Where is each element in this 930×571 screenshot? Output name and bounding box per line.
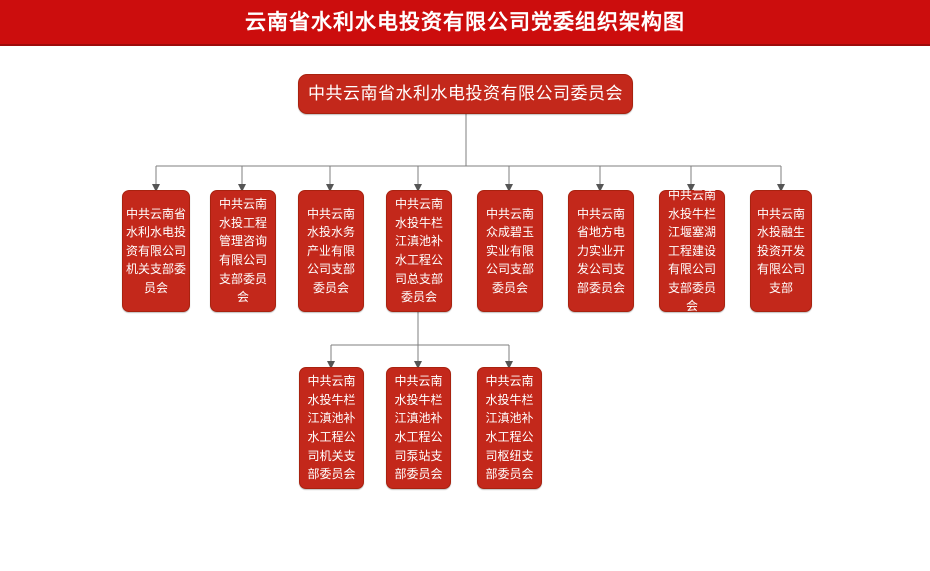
- org-node-root[interactable]: 中共云南省水利水电投资有限公司委员会: [298, 74, 633, 114]
- org-chart-page: 云南省水利水电投资有限公司党委组织架构图: [0, 0, 930, 571]
- org-node-n4[interactable]: 中共云南水投牛栏江滇池补水工程公司总支部委员会: [386, 190, 452, 312]
- org-node-n4b[interactable]: 中共云南水投牛栏江滇池补水工程公司泵站支部委员会: [386, 367, 451, 489]
- org-node-n7[interactable]: 中共云南水投牛栏江堰塞湖工程建设有限公司支部委员会: [659, 190, 725, 312]
- org-node-n8-label: 中共云南水投融生投资开发有限公司支部: [751, 205, 811, 298]
- org-node-n4a[interactable]: 中共云南水投牛栏江滇池补水工程公司机关支部委员会: [299, 367, 364, 489]
- org-node-n4a-label: 中共云南水投牛栏江滇池补水工程公司机关支部委员会: [300, 372, 363, 484]
- org-node-n6-label: 中共云南省地方电力实业开发公司支部委员会: [569, 205, 633, 298]
- org-node-n4c[interactable]: 中共云南水投牛栏江滇池补水工程公司枢纽支部委员会: [477, 367, 542, 489]
- org-node-n4-label: 中共云南水投牛栏江滇池补水工程公司总支部委员会: [387, 195, 451, 307]
- org-node-n2[interactable]: 中共云南水投工程管理咨询有限公司支部委员会: [210, 190, 276, 312]
- org-chart-canvas: 中共云南省水利水电投资有限公司委员会 中共云南省水利水电投资有限公司机关支部委员…: [0, 46, 930, 571]
- org-node-n5[interactable]: 中共云南众成碧玉实业有限公司支部委员会: [477, 190, 543, 312]
- org-node-n1-label: 中共云南省水利水电投资有限公司机关支部委员会: [123, 205, 189, 298]
- org-node-n5-label: 中共云南众成碧玉实业有限公司支部委员会: [478, 205, 542, 298]
- org-node-n8[interactable]: 中共云南水投融生投资开发有限公司支部: [750, 190, 812, 312]
- org-node-n2-label: 中共云南水投工程管理咨询有限公司支部委员会: [211, 195, 275, 307]
- page-title: 云南省水利水电投资有限公司党委组织架构图: [245, 12, 685, 33]
- org-node-n7-label: 中共云南水投牛栏江堰塞湖工程建设有限公司支部委员会: [660, 186, 724, 316]
- org-node-n6[interactable]: 中共云南省地方电力实业开发公司支部委员会: [568, 190, 634, 312]
- org-node-n3-label: 中共云南水投水务产业有限公司支部委员会: [299, 205, 363, 298]
- page-header-banner: 云南省水利水电投资有限公司党委组织架构图: [0, 0, 930, 46]
- org-node-root-label: 中共云南省水利水电投资有限公司委员会: [299, 84, 632, 104]
- org-node-n3[interactable]: 中共云南水投水务产业有限公司支部委员会: [298, 190, 364, 312]
- org-node-n1[interactable]: 中共云南省水利水电投资有限公司机关支部委员会: [122, 190, 190, 312]
- org-node-n4c-label: 中共云南水投牛栏江滇池补水工程公司枢纽支部委员会: [478, 372, 541, 484]
- org-node-n4b-label: 中共云南水投牛栏江滇池补水工程公司泵站支部委员会: [387, 372, 450, 484]
